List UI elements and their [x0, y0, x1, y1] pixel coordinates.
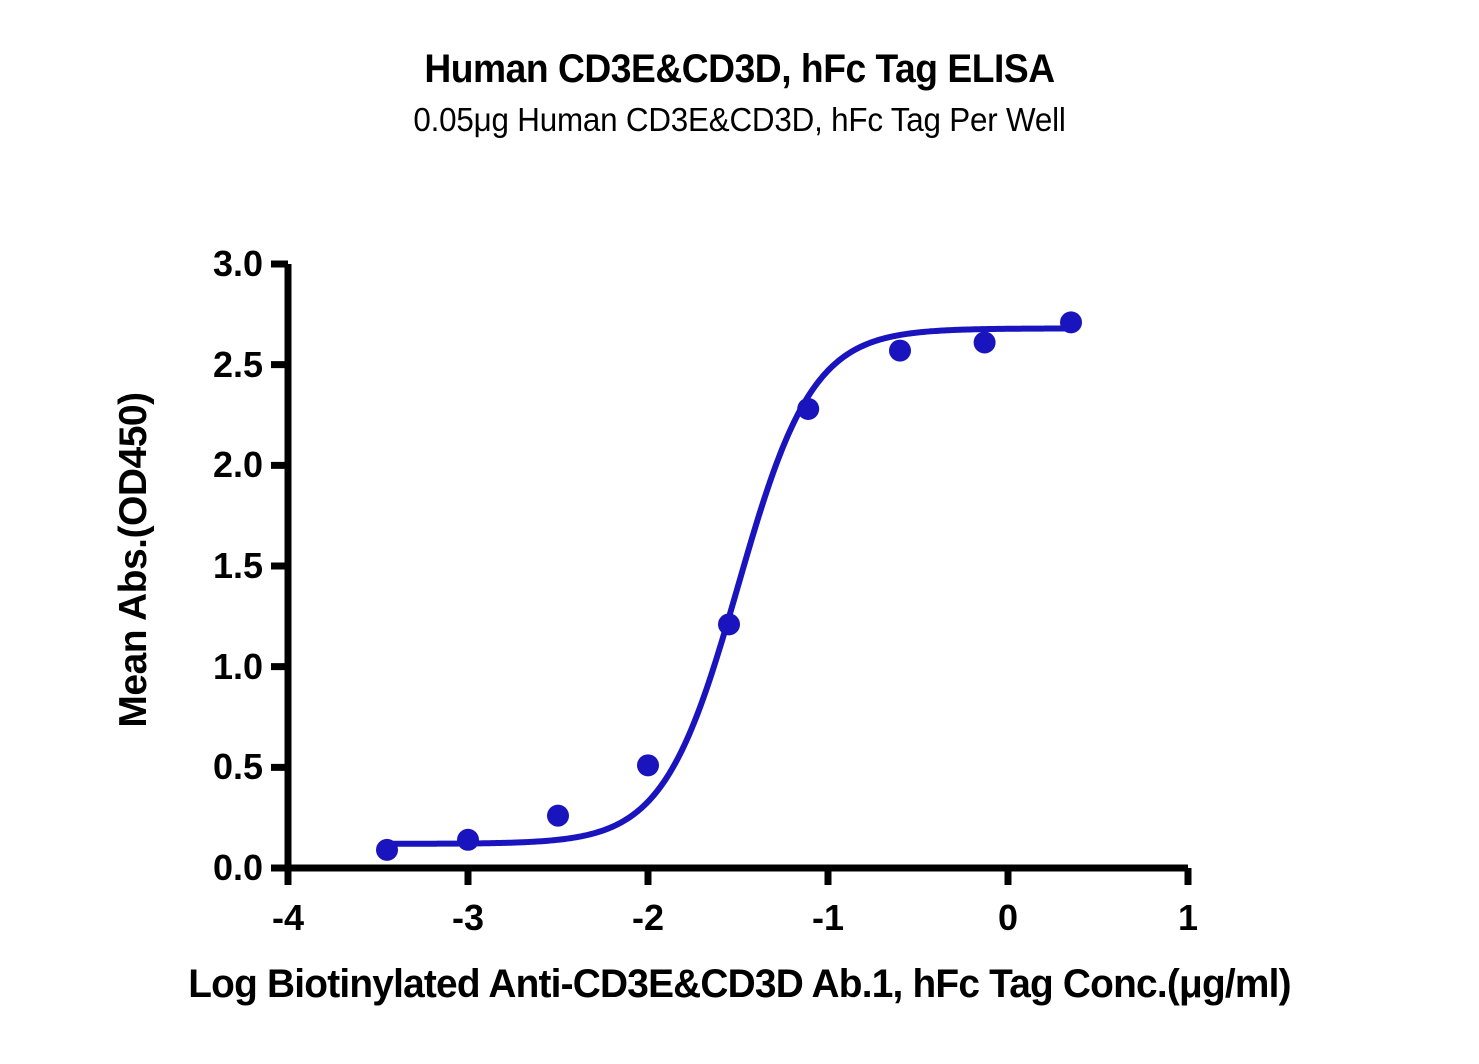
data-point — [718, 613, 740, 635]
data-point-group — [376, 311, 1082, 860]
data-point — [889, 340, 911, 362]
data-point — [376, 839, 398, 861]
data-point — [457, 829, 479, 851]
data-point — [797, 398, 819, 420]
data-point — [547, 805, 569, 827]
elisa-chart-figure: Human CD3E&CD3D, hFc Tag ELISA 0.05μg Hu… — [0, 0, 1479, 1064]
data-point — [1060, 311, 1082, 333]
data-point — [637, 754, 659, 776]
plot-area — [0, 0, 1479, 1064]
data-point — [974, 332, 996, 354]
fit-curve — [387, 328, 1071, 843]
